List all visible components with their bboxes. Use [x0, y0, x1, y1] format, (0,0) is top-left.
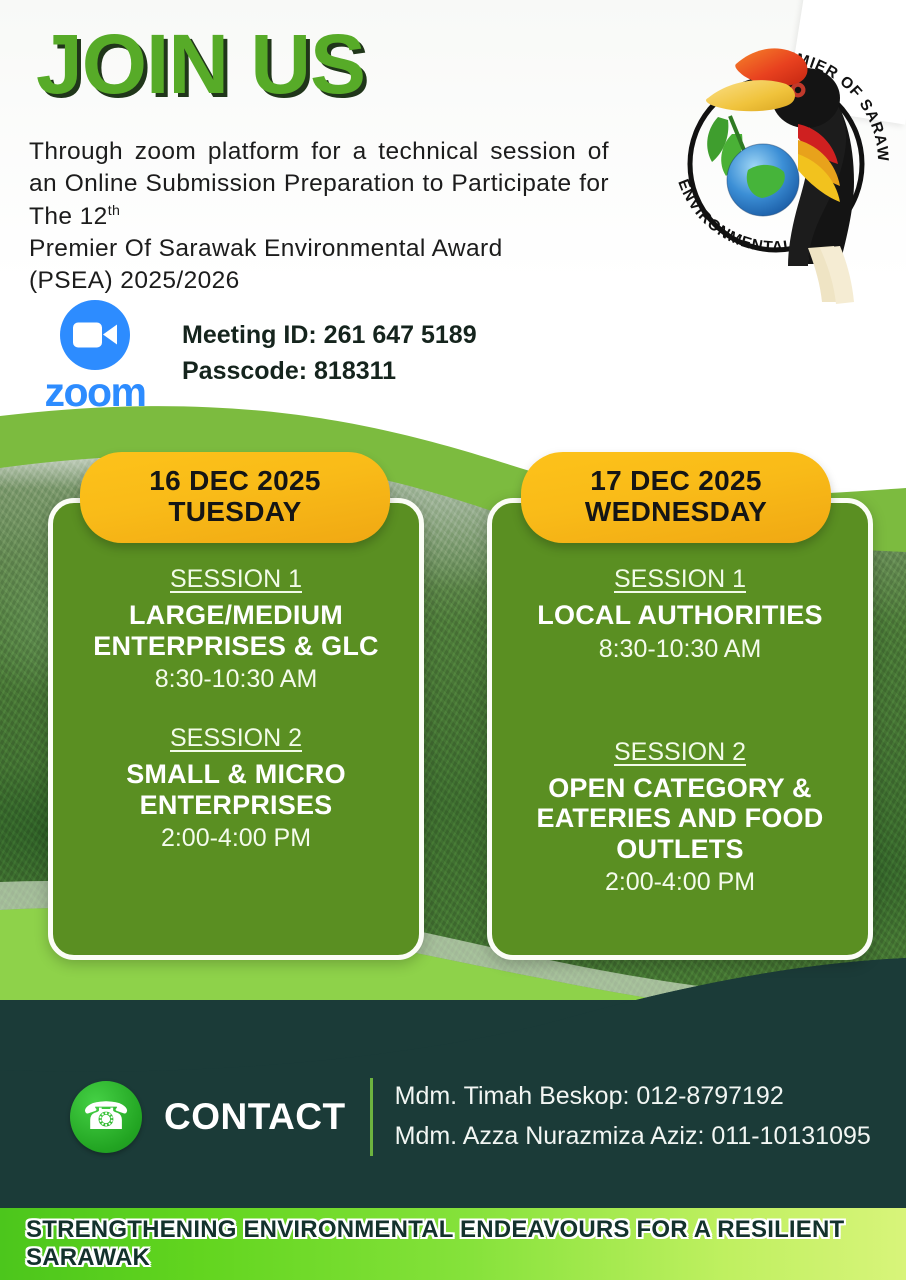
session-time: 8:30-10:30 AM [53, 665, 419, 694]
meeting-details: Meeting ID: 261 647 5189 Passcode: 81831… [182, 318, 477, 389]
session-time: 2:00-4:00 PM [53, 824, 419, 853]
intro-ordinal-suffix: th [108, 203, 121, 219]
card-sessions-day-1: SESSION 1 LARGE/MEDIUM ENTERPRISES & GLC… [53, 565, 419, 853]
intro-line-5: (PSEA) 2025/2026 [29, 265, 609, 297]
schedule-card-day-2[interactable]: SESSION 1 LOCAL AUTHORITIES 8:30-10:30 A… [487, 498, 873, 960]
meeting-id: Meeting ID: 261 647 5189 [182, 318, 477, 354]
phone-glyph: ☎ [82, 1098, 129, 1136]
intro-paragraph: Through zoom platform for a technical se… [29, 136, 609, 298]
session-label: SESSION 1 [53, 565, 419, 594]
date-badge-day-2: 17 DEC 2025 WEDNESDAY [521, 452, 831, 543]
session-title: SMALL & MICRO ENTERPRISES [53, 759, 419, 820]
poster-canvas: JOIN US Through zoom platform for a tech… [0, 0, 906, 1280]
zoom-wordmark: zoom [36, 372, 154, 413]
contact-person-2[interactable]: Mdm. Azza Nurazmiza Aziz: 011-10131095 [395, 1117, 871, 1157]
contact-heading: CONTACT [164, 1096, 346, 1138]
weekday-text: TUESDAY [80, 496, 390, 527]
session-block: SESSION 1 LARGE/MEDIUM ENTERPRISES & GLC… [53, 565, 419, 694]
session-block: SESSION 1 LOCAL AUTHORITIES 8:30-10:30 A… [492, 565, 868, 664]
footer-banner: STRENGTHENING ENVIRONMENTAL ENDEAVOURS F… [0, 1208, 906, 1280]
contact-details: Mdm. Timah Beskop: 012-8797192 Mdm. Azza… [395, 1077, 871, 1156]
session-title: LOCAL AUTHORITIES [492, 600, 868, 631]
intro-line-4: Premier Of Sarawak Environmental Award [29, 233, 609, 265]
session-title: LARGE/MEDIUM ENTERPRISES & GLC [53, 600, 419, 661]
date-text: 16 DEC 2025 [80, 465, 390, 496]
contact-section: ☎ CONTACT Mdm. Timah Beskop: 012-8797192… [70, 1077, 871, 1156]
contact-person-1[interactable]: Mdm. Timah Beskop: 012-8797192 [395, 1077, 871, 1117]
page-title: JOIN US [36, 22, 365, 106]
date-badge-day-1: 16 DEC 2025 TUESDAY [80, 452, 390, 543]
session-time: 2:00-4:00 PM [492, 868, 868, 897]
weekday-text: WEDNESDAY [521, 496, 831, 527]
wave-dark-separator [0, 958, 906, 1078]
session-label: SESSION 2 [492, 738, 868, 767]
session-block: SESSION 2 SMALL & MICRO ENTERPRISES 2:00… [53, 724, 419, 853]
hornbill-emblem-icon: PREMIER OF SARAWAK ENVIRONMENTAL AWARD [648, 12, 898, 312]
session-label: SESSION 1 [492, 565, 868, 594]
zoom-logo: zoom [36, 300, 154, 413]
contact-divider [370, 1078, 373, 1156]
session-time: 8:30-10:30 AM [492, 635, 868, 664]
footer-tagline: STRENGTHENING ENVIRONMENTAL ENDEAVOURS F… [26, 1216, 906, 1272]
zoom-camera-icon [60, 300, 130, 370]
meeting-passcode: Passcode: 818311 [182, 354, 477, 390]
schedule-card-day-1[interactable]: SESSION 1 LARGE/MEDIUM ENTERPRISES & GLC… [48, 498, 424, 960]
session-title: OPEN CATEGORY & EATERIES AND FOOD OUTLET… [492, 773, 868, 865]
card-sessions-day-2: SESSION 1 LOCAL AUTHORITIES 8:30-10:30 A… [492, 565, 868, 897]
date-text: 17 DEC 2025 [521, 465, 831, 496]
phone-icon[interactable]: ☎ [70, 1081, 142, 1153]
session-label: SESSION 2 [53, 724, 419, 753]
session-block: SESSION 2 OPEN CATEGORY & EATERIES AND F… [492, 738, 868, 898]
